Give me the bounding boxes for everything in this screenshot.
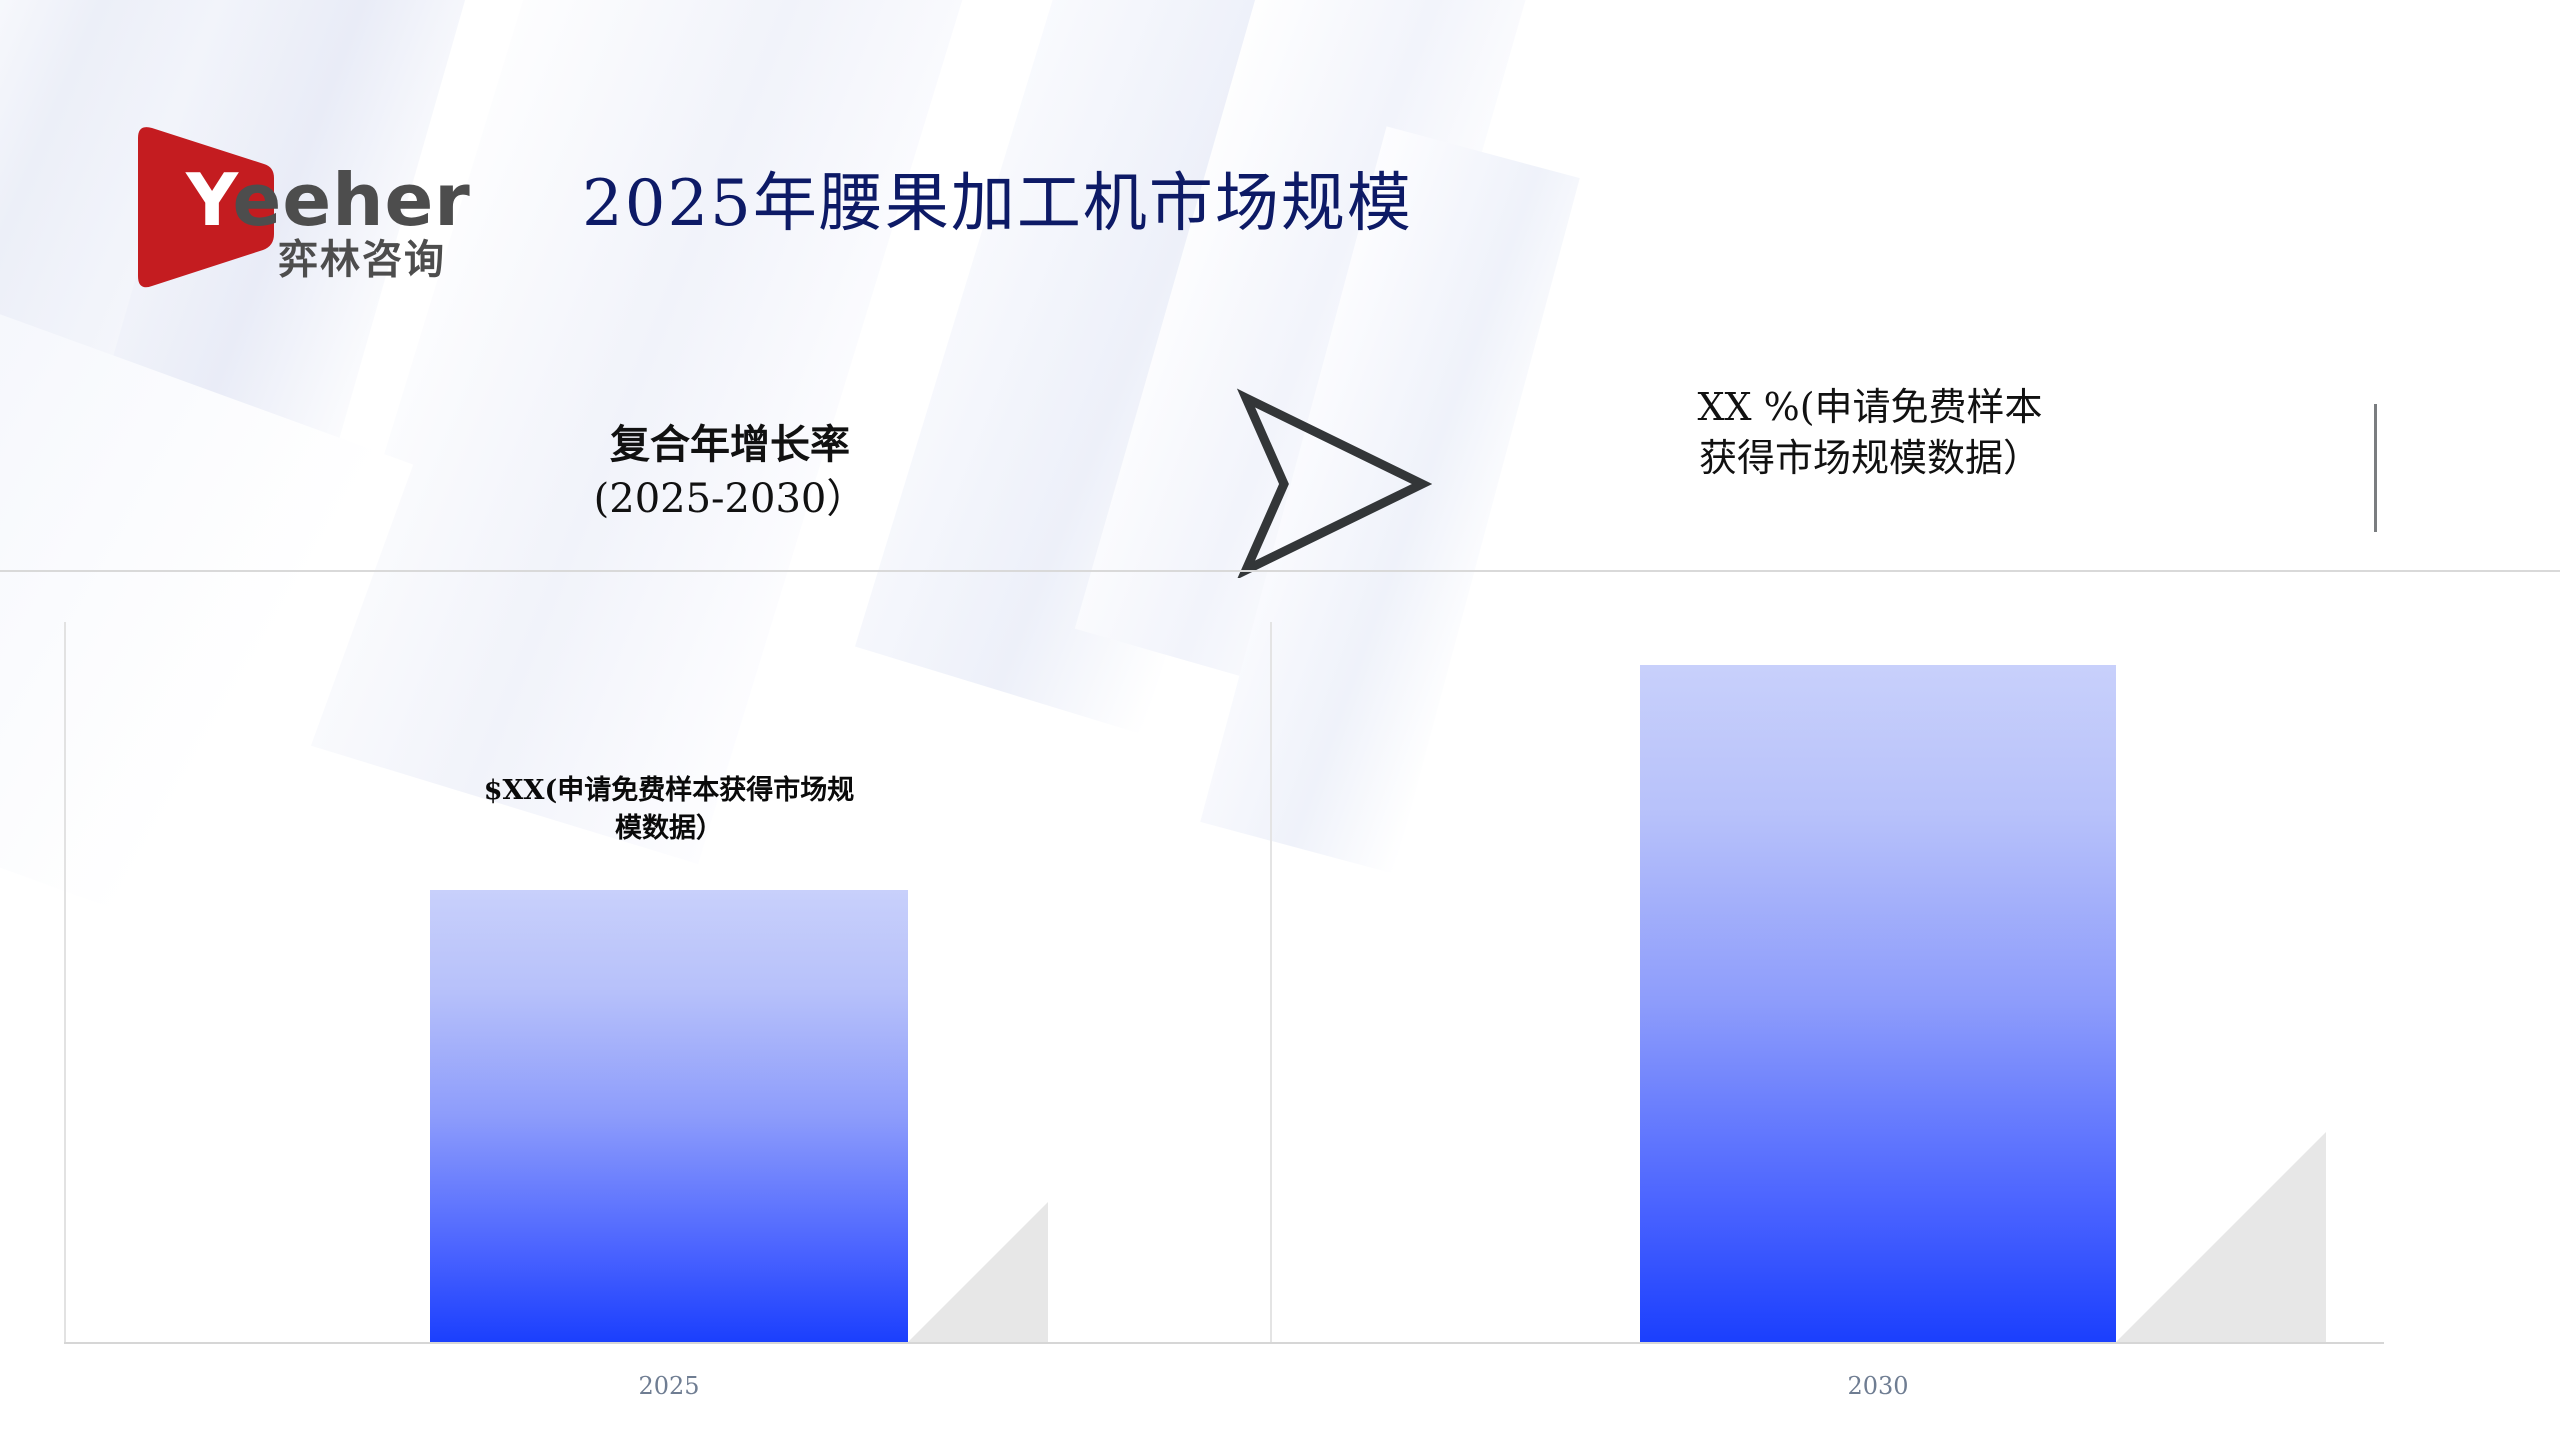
- bar-shadow-2030: [2116, 1132, 2326, 1342]
- logo-wordmark-rest: eeher: [233, 158, 471, 242]
- arrow-right-outline-icon: [1232, 388, 1432, 578]
- bar-2025[interactable]: [430, 890, 908, 1342]
- market-size-callout: XX %(申请免费样本 获得市场规模数据）: [1630, 382, 2110, 485]
- bar-2030[interactable]: [1640, 665, 2116, 1342]
- bar-group-2030: [1640, 665, 2116, 1342]
- callout-divider-rule: [2374, 404, 2377, 532]
- x-axis-tick-2030: 2030: [1640, 1372, 2116, 1400]
- logo-wordmark-initial: Y: [186, 158, 233, 242]
- callout-line2: 获得市场规模数据）: [1630, 433, 2110, 484]
- chart-center-divider: [1270, 622, 1272, 1342]
- cagr-label-line2: (2025-2030）: [480, 472, 980, 526]
- chart-baseline-axis: [64, 1342, 2384, 1344]
- bar-group-2025: [430, 890, 908, 1342]
- x-axis-tick-2025: 2025: [430, 1372, 908, 1400]
- bar-value-label-2025-line2: 模数据）: [430, 810, 908, 848]
- chart-left-border: [64, 622, 66, 1344]
- cagr-label: 复合年增长率 (2025-2030）: [480, 418, 980, 526]
- cagr-label-line1: 复合年增长率: [480, 418, 980, 472]
- brand-logo: Yeeher 弈林咨询: [128, 112, 468, 302]
- logo-wordmark: Yeeher: [186, 164, 471, 236]
- callout-line1: XX %(申请免费样本: [1630, 382, 2110, 433]
- logo-subtitle: 弈林咨询: [278, 240, 446, 280]
- bar-shadow-2025: [908, 1202, 1048, 1342]
- page-title: 2025年腰果加工机市场规模: [582, 152, 1413, 244]
- bar-value-label-2025: $XX(申请免费样本获得市场规 模数据）: [430, 772, 908, 848]
- bar-value-label-2025-line1: $XX(申请免费样本获得市场规: [430, 772, 908, 810]
- bar-chart: $XX(申请免费样本获得市场规 模数据） 2025 2030: [0, 572, 2560, 1440]
